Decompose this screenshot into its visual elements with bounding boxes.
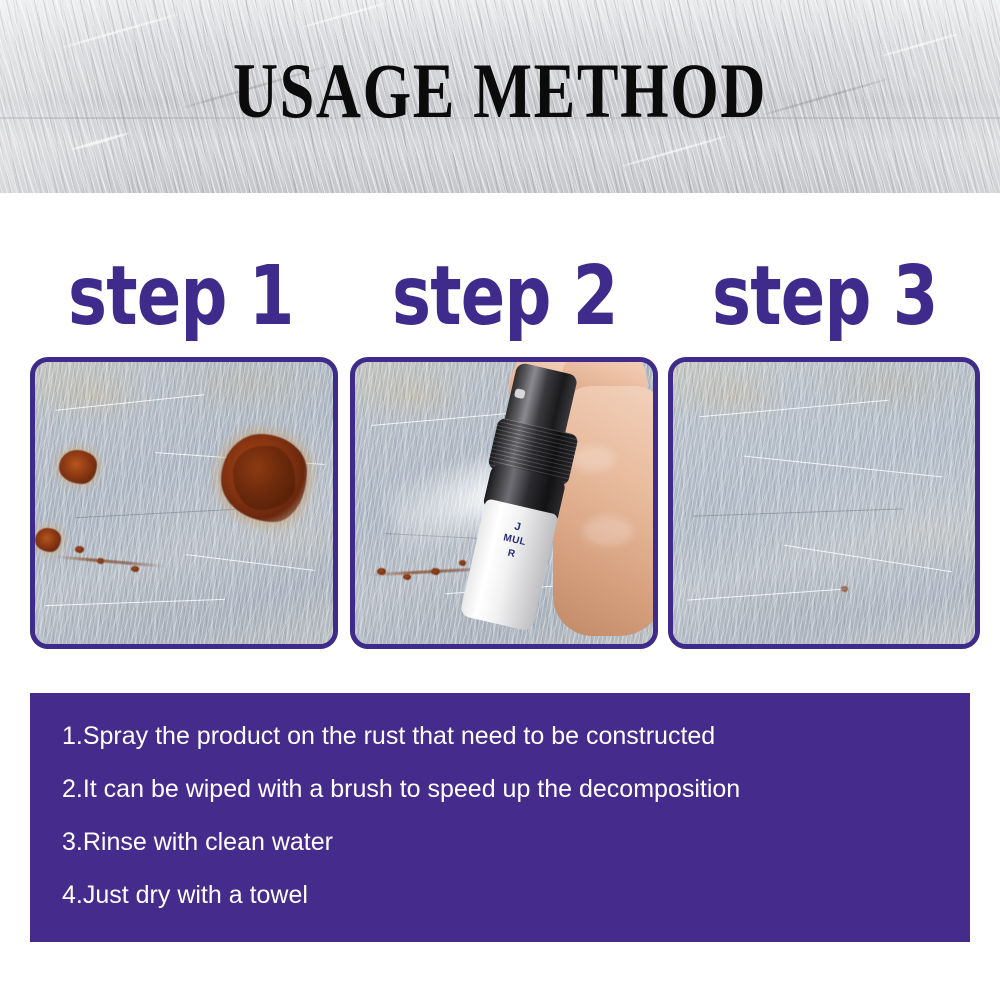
step-photo-1 [30,357,338,649]
step-label-2: step 2 [392,252,618,342]
knuckle-highlight [583,516,633,546]
step-photos-row: J MUL R [0,357,1000,639]
header-banner: USAGE METHOD [0,0,1000,193]
rust-fleck [131,566,139,572]
usage-method-infographic: USAGE METHOD step 1 step 2 step 3 [0,0,1000,1000]
instructions-panel: 1.Spray the product on the rust that nee… [30,693,970,942]
instruction-item: 2.It can be wiped with a brush to speed … [62,776,970,802]
rust-fleck [75,546,84,553]
step-label-3: step 3 [712,252,938,342]
rust-fleck [841,586,848,592]
instruction-item: 4.Just dry with a towel [62,882,970,908]
instructions-list: 1.Spray the product on the rust that nee… [30,693,970,908]
step-label-1: step 1 [68,252,294,342]
hand-holding-bottle: J MUL R [487,362,653,644]
step-photo-3 [668,357,980,649]
page-title: USAGE METHOD [100,52,900,130]
instruction-item: 1.Spray the product on the rust that nee… [62,723,970,749]
clean-metal-surface-image [673,362,975,644]
step-photo-2: J MUL R [350,357,658,649]
rusted-metal-surface-image [35,362,333,644]
rust-core [233,446,295,509]
spraying-rust-remover-image: J MUL R [355,362,653,644]
rust-patch-small [59,450,97,484]
rust-fleck [403,574,411,580]
nozzle-opening [514,388,526,399]
instruction-item: 3.Rinse with clean water [62,829,970,855]
bottle-label: J MUL R [474,512,556,570]
step-labels-row: step 1 step 2 step 3 [0,252,1000,352]
rust-patch-small [35,528,61,552]
bottle-body: J MUL R [459,498,558,632]
